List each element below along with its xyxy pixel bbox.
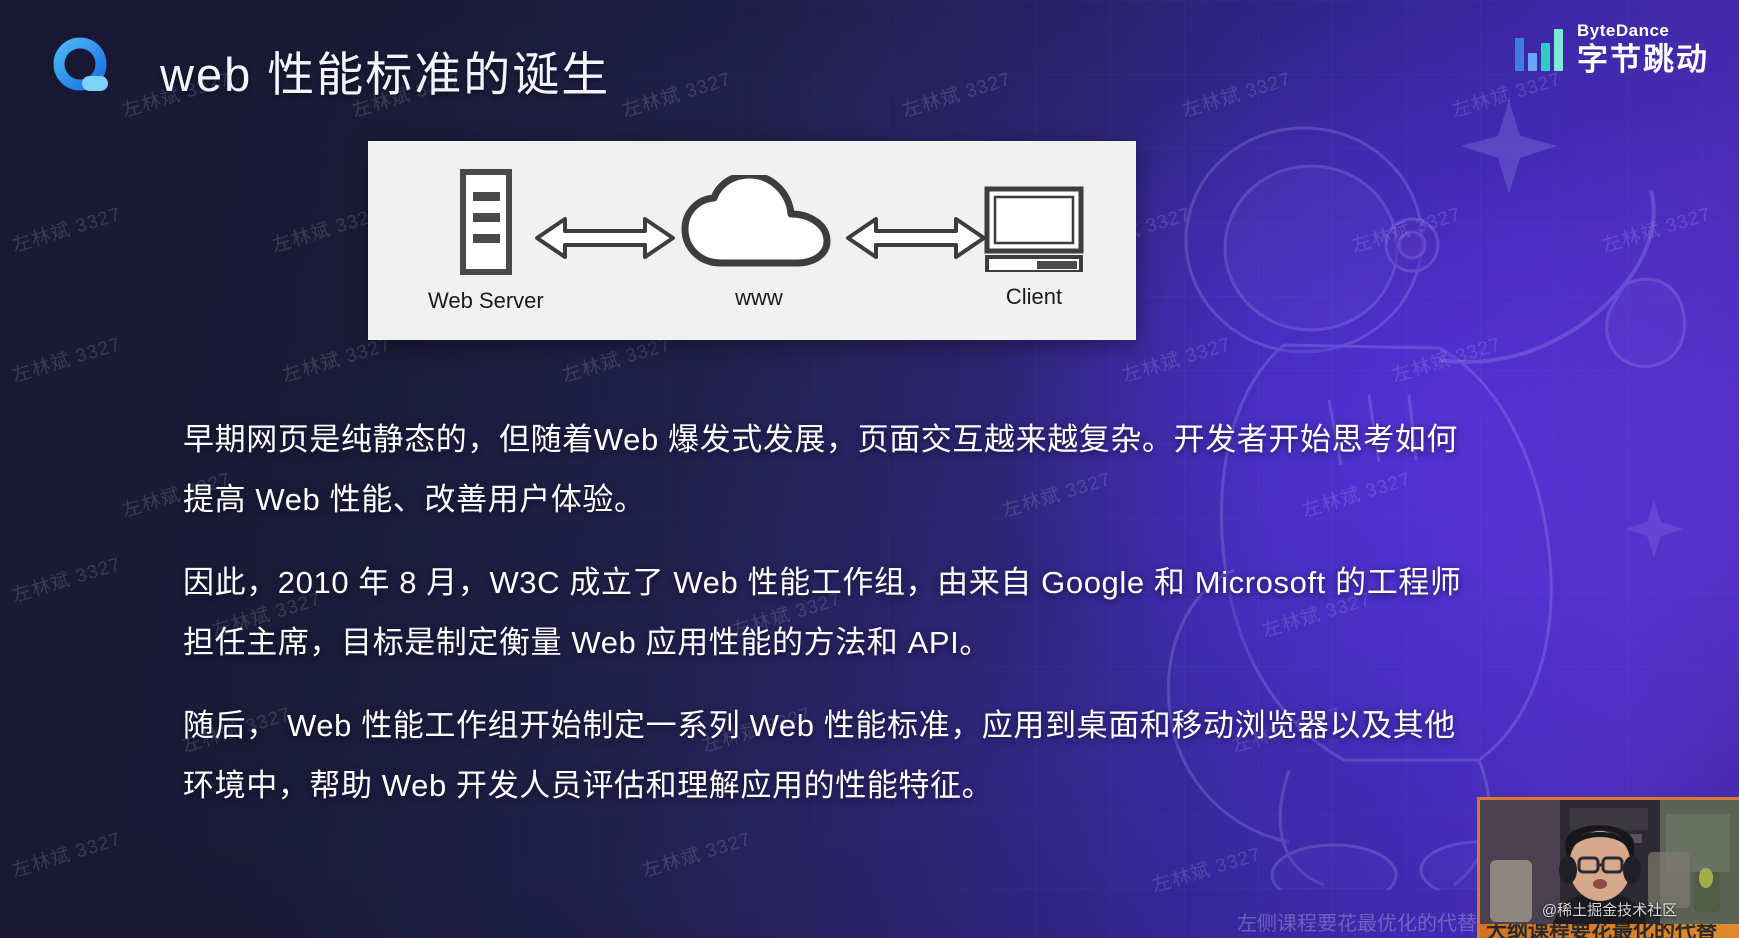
diagram-node-web-server: Web Server [428, 168, 544, 314]
bytedance-bars-icon [1515, 27, 1563, 71]
double-arrow-icon-right [846, 213, 986, 263]
cloud-icon [679, 175, 839, 273]
juejin-logo-icon [52, 36, 112, 98]
diagram-node-label: Web Server [428, 288, 544, 314]
webcam-overlay[interactable]: @稀土掘金技术社区 大纲课程要花最化的代替 [1477, 797, 1739, 938]
bytedance-cn-label: 字节跳动 [1577, 44, 1709, 75]
stream-watermark: @稀土掘金技术社区 [1542, 899, 1677, 920]
paragraph-2: 因此，2010 年 8 月，W3C 成立了 Web 性能工作组，由来自 Goog… [183, 553, 1468, 674]
diagram-node-label: www [735, 285, 783, 311]
bytedance-logo: ByteDance 字节跳动 [1515, 22, 1709, 75]
paragraph-3: 随后， Web 性能工作组开始制定一系列 Web 性能标准，应用到桌面和移动浏览… [183, 696, 1468, 817]
monitor-icon [984, 186, 1084, 272]
stream-caption-tail: 左侧课程要花最优化的代替 [1237, 907, 1477, 936]
page-title: web 性能标准的诞生 [160, 36, 610, 105]
bytedance-en-label: ByteDance [1577, 22, 1709, 39]
diagram-node-label: Client [1006, 284, 1062, 310]
diagram-node-client: Client [984, 186, 1084, 310]
stream-caption-bar: 大纲课程要花最化的代替 [1480, 924, 1739, 938]
paragraph-1: 早期网页是纯静态的，但随着Web 爆发式发展，页面交互越来越复杂。开发者开始思考… [183, 410, 1468, 531]
body-text: 早期网页是纯静态的，但随着Web 爆发式发展，页面交互越来越复杂。开发者开始思考… [183, 410, 1468, 817]
double-arrow-icon-left [535, 213, 675, 263]
architecture-diagram: Web Server www [368, 141, 1136, 340]
diagram-node-www: www [679, 175, 839, 311]
stream-caption-text: 大纲课程要花最化的代替 [1486, 924, 1717, 938]
slide-stage: 左林斌 3327 左林斌 3327 左林斌 3327 左林斌 3327 左林斌 … [0, 0, 1739, 938]
server-icon [446, 168, 526, 276]
